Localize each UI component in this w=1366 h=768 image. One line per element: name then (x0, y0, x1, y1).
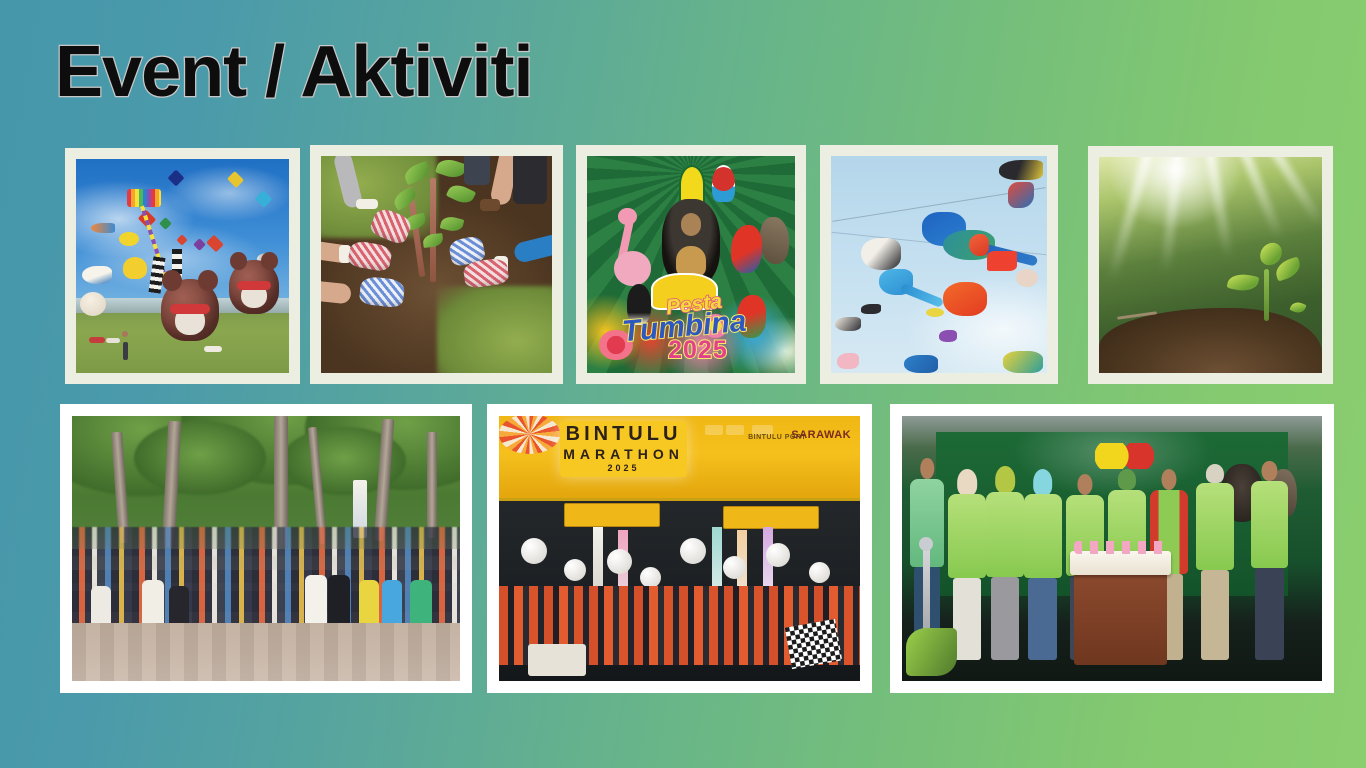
kite-diamond (206, 235, 224, 253)
person-pants (1255, 568, 1284, 659)
tree-trunk (427, 432, 437, 538)
poster-title-year: 2025 (668, 336, 728, 365)
checkered-flag (785, 619, 842, 670)
foreground-plant (906, 628, 956, 676)
photo-community-run (72, 416, 460, 681)
banner-line3: 2025 (608, 464, 640, 473)
ceremonial-cake (1070, 551, 1171, 575)
person-pants (1201, 570, 1230, 660)
inflatable-squirrel (161, 279, 219, 341)
person-head (1077, 474, 1092, 494)
sapling-stem (430, 178, 436, 282)
person (1196, 464, 1234, 660)
kite-small-orange (969, 234, 989, 256)
gallery-item-kite-festival[interactable] (65, 148, 300, 384)
person-hijab (1033, 469, 1053, 496)
kite-rainbow (127, 189, 161, 207)
cake-flowers (1074, 541, 1166, 554)
gallery-item-seedling[interactable] (1088, 146, 1333, 384)
kite-diamond (193, 238, 206, 251)
person-shirt (948, 494, 986, 578)
kite-smiley (119, 232, 139, 246)
kite-fish (91, 223, 115, 233)
gallery-item-bintulu-marathon[interactable]: BINTULU MARATHON 2025 BINTULU PORT SARAW… (487, 404, 872, 693)
kite-yellow-bottom (1003, 351, 1043, 373)
gallery-item-community-run[interactable] (60, 404, 472, 693)
kite-tail-ribbon (1008, 182, 1034, 208)
gallery-item-animal-kites[interactable] (820, 145, 1058, 384)
person-hijab (995, 466, 1015, 493)
sponsor-crest-icon (705, 425, 723, 435)
gallery-item-pesta-tumbina-poster[interactable]: Pesta Tumbina 2025 (576, 145, 806, 384)
kite-diamond (159, 217, 172, 230)
inflatable-scarf (237, 281, 271, 290)
person-head (1262, 461, 1277, 481)
parked-car (106, 338, 120, 343)
photo-pesta-tumbina: Pesta Tumbina 2025 (587, 156, 795, 373)
banner-line1: BINTULU (566, 424, 682, 444)
sunburst-logo-icon (499, 416, 560, 454)
person-cap (1206, 464, 1224, 484)
person-pants (991, 577, 1020, 660)
person-shirt (1024, 494, 1062, 578)
person-pants (1028, 578, 1057, 660)
sponsor-council-icon (726, 425, 744, 435)
kite-animal (999, 160, 1043, 180)
kite-diamond (227, 171, 244, 188)
kite-diamond (177, 234, 188, 245)
person-cap (1118, 469, 1136, 490)
kite-diamond (255, 190, 273, 208)
person (1251, 461, 1289, 660)
person-head (920, 458, 933, 478)
ground-kite (204, 346, 222, 352)
light-box (723, 506, 819, 529)
person-head (122, 331, 128, 337)
bucket-prop (528, 644, 586, 676)
parked-car (89, 337, 105, 343)
page-title: Event / Aktiviti (55, 34, 532, 112)
grass-patch (437, 286, 553, 373)
start-arch: BINTULU MARATHON 2025 BINTULU PORT SARAW… (499, 416, 860, 501)
balloon (564, 559, 586, 581)
flamingo-head (618, 208, 637, 225)
person-shirt (1196, 483, 1234, 569)
photo-tree-planting (321, 156, 552, 373)
bag (513, 156, 547, 204)
inflatable-white-bear (80, 292, 106, 316)
kite-red-panel (987, 251, 1017, 271)
person (1024, 469, 1062, 660)
photo-bintulu-marathon: BINTULU MARATHON 2025 BINTULU PORT SARAW… (499, 416, 860, 681)
sun-bear-muzzle (681, 213, 702, 236)
leg (464, 156, 490, 185)
backdrop-logos-icon (1095, 443, 1154, 470)
person (986, 466, 1024, 659)
light-box (564, 503, 660, 526)
kite-tail-end (1016, 269, 1038, 287)
balloon (680, 538, 706, 564)
kite-small-black (861, 304, 881, 314)
kite-diamond (167, 169, 184, 186)
balloon (607, 549, 632, 574)
person-head (1161, 469, 1176, 490)
kite-small-purple (939, 330, 957, 342)
sponsor-sarawak-label: SARAWAK (791, 429, 851, 441)
council-logo-icon (712, 165, 735, 202)
kite-small-yellow (926, 308, 944, 317)
person-hijab (957, 469, 977, 496)
seedling-stem (1264, 269, 1269, 321)
kite-blue-bottom (904, 355, 938, 373)
gallery-item-cake-ceremony[interactable] (890, 404, 1334, 693)
kite-dragon-blue-tail (900, 283, 944, 308)
person-shirt (986, 492, 1024, 577)
person-silhouette (123, 342, 128, 360)
glove-cuff (356, 199, 378, 209)
kite-animal-bw (861, 238, 901, 270)
kite-dolphin (82, 266, 112, 284)
kite-dinosaur (943, 282, 987, 316)
inflatable-squirrel (229, 260, 279, 314)
cake-table (1074, 570, 1166, 665)
marathon-banner-sign: BINTULU MARATHON 2025 (560, 421, 686, 477)
balloon (521, 538, 547, 564)
photo-cake-ceremony (902, 416, 1322, 681)
person-shirt (1251, 481, 1289, 568)
tree-canopy (134, 421, 266, 495)
poster-canvas: Pesta Tumbina 2025 (587, 156, 795, 373)
kite-pink (837, 353, 859, 369)
photo-animal-kites (831, 156, 1047, 373)
photo-seedling (1099, 157, 1322, 373)
banner-line2: MARATHON (563, 447, 684, 461)
shoe (480, 199, 500, 211)
inflatable-scarf (170, 304, 209, 314)
gallery-item-tree-planting[interactable] (310, 145, 563, 384)
photo-kite-festival (76, 159, 289, 373)
kite-small-bw (835, 317, 861, 331)
paved-ground (72, 623, 460, 681)
kite-yellow (123, 257, 147, 279)
person-pants (953, 578, 982, 660)
